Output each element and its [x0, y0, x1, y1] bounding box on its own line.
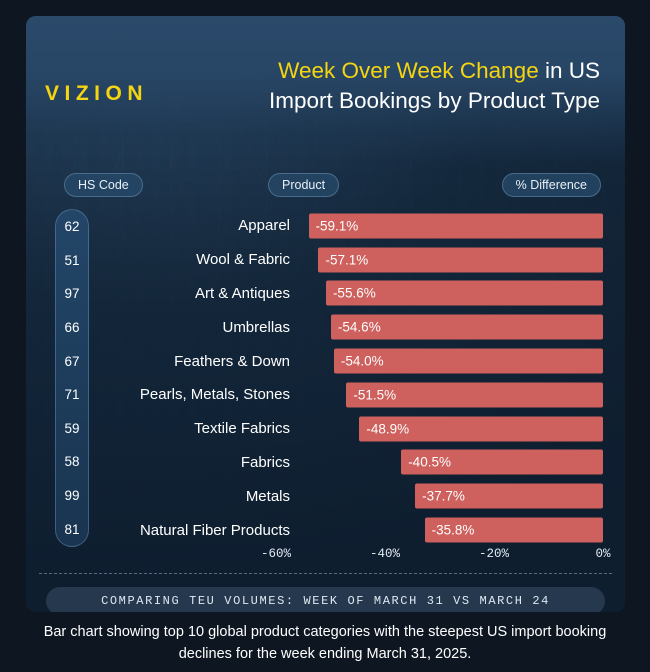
bar-track: -54.6% [304, 310, 603, 344]
hs-code-column: 62519766677159589981 [55, 209, 89, 547]
bar-value-label: -57.1% [318, 252, 368, 267]
product-label: Feathers & Down [94, 353, 304, 370]
bar: -35.8% [425, 518, 603, 543]
chart-row: Umbrellas-54.6% [94, 310, 603, 344]
product-label: Textile Fabrics [94, 420, 304, 437]
bar-track: -35.8% [304, 513, 603, 547]
column-header-difference: % Difference [502, 173, 601, 197]
vizion-logo: VIZION [45, 82, 148, 106]
hs-code-cell: 81 [56, 512, 88, 546]
hs-code-cell: 67 [56, 344, 88, 378]
bar-value-label: -55.6% [326, 286, 376, 301]
footer-note-pill: COMPARING TEU VOLUMES: WEEK OF MARCH 31 … [46, 587, 605, 612]
chart-row: Art & Antiques-55.6% [94, 277, 603, 311]
product-label: Umbrellas [94, 319, 304, 336]
chart-row: Textile Fabrics-48.9% [94, 412, 603, 446]
chart-rows: Apparel-59.1%Wool & Fabric-57.1%Art & An… [94, 209, 603, 547]
infographic-card: VIZION Week Over Week Change in US Impor… [26, 16, 625, 612]
column-header-product: Product [268, 173, 339, 197]
title-highlight: Week Over Week Change [278, 58, 539, 83]
bar: -37.7% [415, 484, 603, 509]
product-label: Wool & Fabric [94, 251, 304, 268]
bar-track: -54.0% [304, 344, 603, 378]
bar-track: -40.5% [304, 446, 603, 480]
bar: -57.1% [318, 247, 603, 272]
hs-code-cell: 62 [56, 210, 88, 244]
chart-row: Wool & Fabric-57.1% [94, 243, 603, 277]
chart-row: Metals-37.7% [94, 479, 603, 513]
chart-row: Feathers & Down-54.0% [94, 344, 603, 378]
hs-code-cell: 99 [56, 479, 88, 513]
product-label: Natural Fiber Products [94, 522, 304, 539]
hs-code-cell: 59 [56, 412, 88, 446]
product-label: Metals [94, 488, 304, 505]
column-header-hs-code: HS Code [64, 173, 143, 197]
bar-track: -48.9% [304, 412, 603, 446]
x-axis-tick: -60% [261, 547, 291, 561]
page-root: VIZION Week Over Week Change in US Impor… [0, 0, 650, 672]
hs-code-cell: 58 [56, 445, 88, 479]
footer-divider [39, 573, 612, 574]
card-header: VIZION Week Over Week Change in US Impor… [26, 16, 625, 150]
bar-value-label: -40.5% [401, 455, 451, 470]
bar: -40.5% [401, 450, 603, 475]
bar: -48.9% [359, 416, 603, 441]
x-axis: -60%-40%-20%0% [276, 547, 603, 565]
bar-value-label: -51.5% [346, 387, 396, 402]
product-label: Fabrics [94, 454, 304, 471]
product-label: Art & Antiques [94, 285, 304, 302]
hs-code-cell: 66 [56, 311, 88, 345]
card-content: VIZION Week Over Week Change in US Impor… [26, 16, 625, 612]
bar: -54.0% [334, 349, 603, 374]
bar: -59.1% [309, 213, 604, 238]
product-label: Apparel [94, 217, 304, 234]
bar-value-label: -54.0% [334, 354, 384, 369]
hs-code-cell: 97 [56, 277, 88, 311]
bar: -54.6% [331, 315, 603, 340]
bar-value-label: -54.6% [331, 320, 381, 335]
bar-value-label: -48.9% [359, 421, 409, 436]
bar-track: -55.6% [304, 277, 603, 311]
image-caption: Bar chart showing top 10 global product … [0, 622, 650, 666]
bar-track: -57.1% [304, 243, 603, 277]
x-axis-tick: -40% [370, 547, 400, 561]
hs-code-cell: 51 [56, 244, 88, 278]
chart-row: Apparel-59.1% [94, 209, 603, 243]
page-title: Week Over Week Change in US Import Booki… [200, 56, 600, 116]
bar-track: -37.7% [304, 479, 603, 513]
product-label: Pearls, Metals, Stones [94, 386, 304, 403]
title-rest: in US [539, 58, 600, 83]
bar-value-label: -35.8% [425, 523, 475, 538]
bar: -55.6% [326, 281, 603, 306]
x-axis-tick: -20% [479, 547, 509, 561]
title-line-2: Import Bookings by Product Type [200, 86, 600, 116]
bar-track: -51.5% [304, 378, 603, 412]
chart-row: Fabrics-40.5% [94, 446, 603, 480]
title-line-1: Week Over Week Change in US [200, 56, 600, 86]
bar-value-label: -37.7% [415, 489, 465, 504]
chart-row: Natural Fiber Products-35.8% [94, 513, 603, 547]
footer-note-text: COMPARING TEU VOLUMES: WEEK OF MARCH 31 … [101, 594, 550, 608]
x-axis-tick: 0% [595, 547, 610, 561]
chart-row: Pearls, Metals, Stones-51.5% [94, 378, 603, 412]
bar-track: -59.1% [304, 209, 603, 243]
hs-code-cell: 71 [56, 378, 88, 412]
bar-value-label: -59.1% [309, 218, 359, 233]
bar: -51.5% [346, 382, 603, 407]
